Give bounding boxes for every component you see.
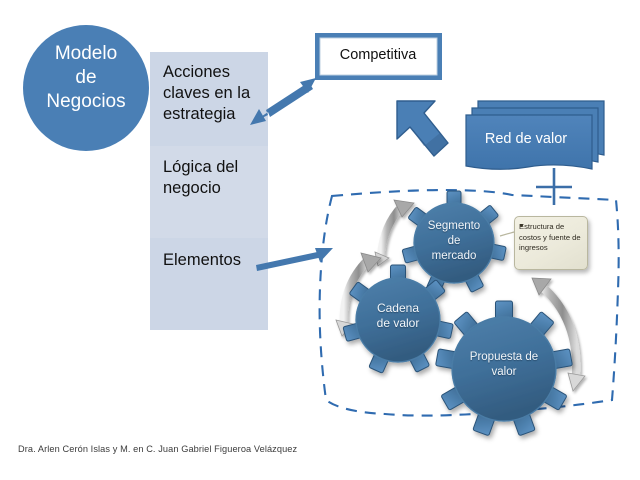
note-bullet-icon — [520, 224, 523, 227]
red-de-valor-label: Red de valor — [470, 131, 582, 147]
modelo-negocios-label: Modelo de Negocios — [24, 42, 148, 114]
gear-label-segmento-de-mercado: Segmento de mercado — [413, 219, 495, 264]
panel-item-acciones-claves: Acciones claves en la estrategia — [163, 62, 268, 125]
gear-label-propuesta-de-valor: Propuesta de valor — [455, 350, 553, 380]
red-to-competitiva-arrow — [397, 101, 448, 156]
slide-canvas: Modelo de Negocios Acciones claves en la… — [0, 0, 640, 480]
footer-credit: Dra. Arlen Cerón Islas y M. en C. Juan G… — [18, 444, 297, 454]
competitiva-label: Competitiva — [323, 47, 433, 63]
note-leader-line — [500, 232, 514, 236]
plus-sign-icon — [536, 168, 572, 205]
note-callout-label: Estructura de costos y fuente de ingreso… — [519, 222, 585, 254]
gear-label-cadena-de-valor: Cadena de valor — [358, 301, 438, 331]
panel-item-elementos: Elementos — [163, 250, 273, 271]
panel-item-logica-del-negocio: Lógica del negocio — [163, 157, 268, 199]
